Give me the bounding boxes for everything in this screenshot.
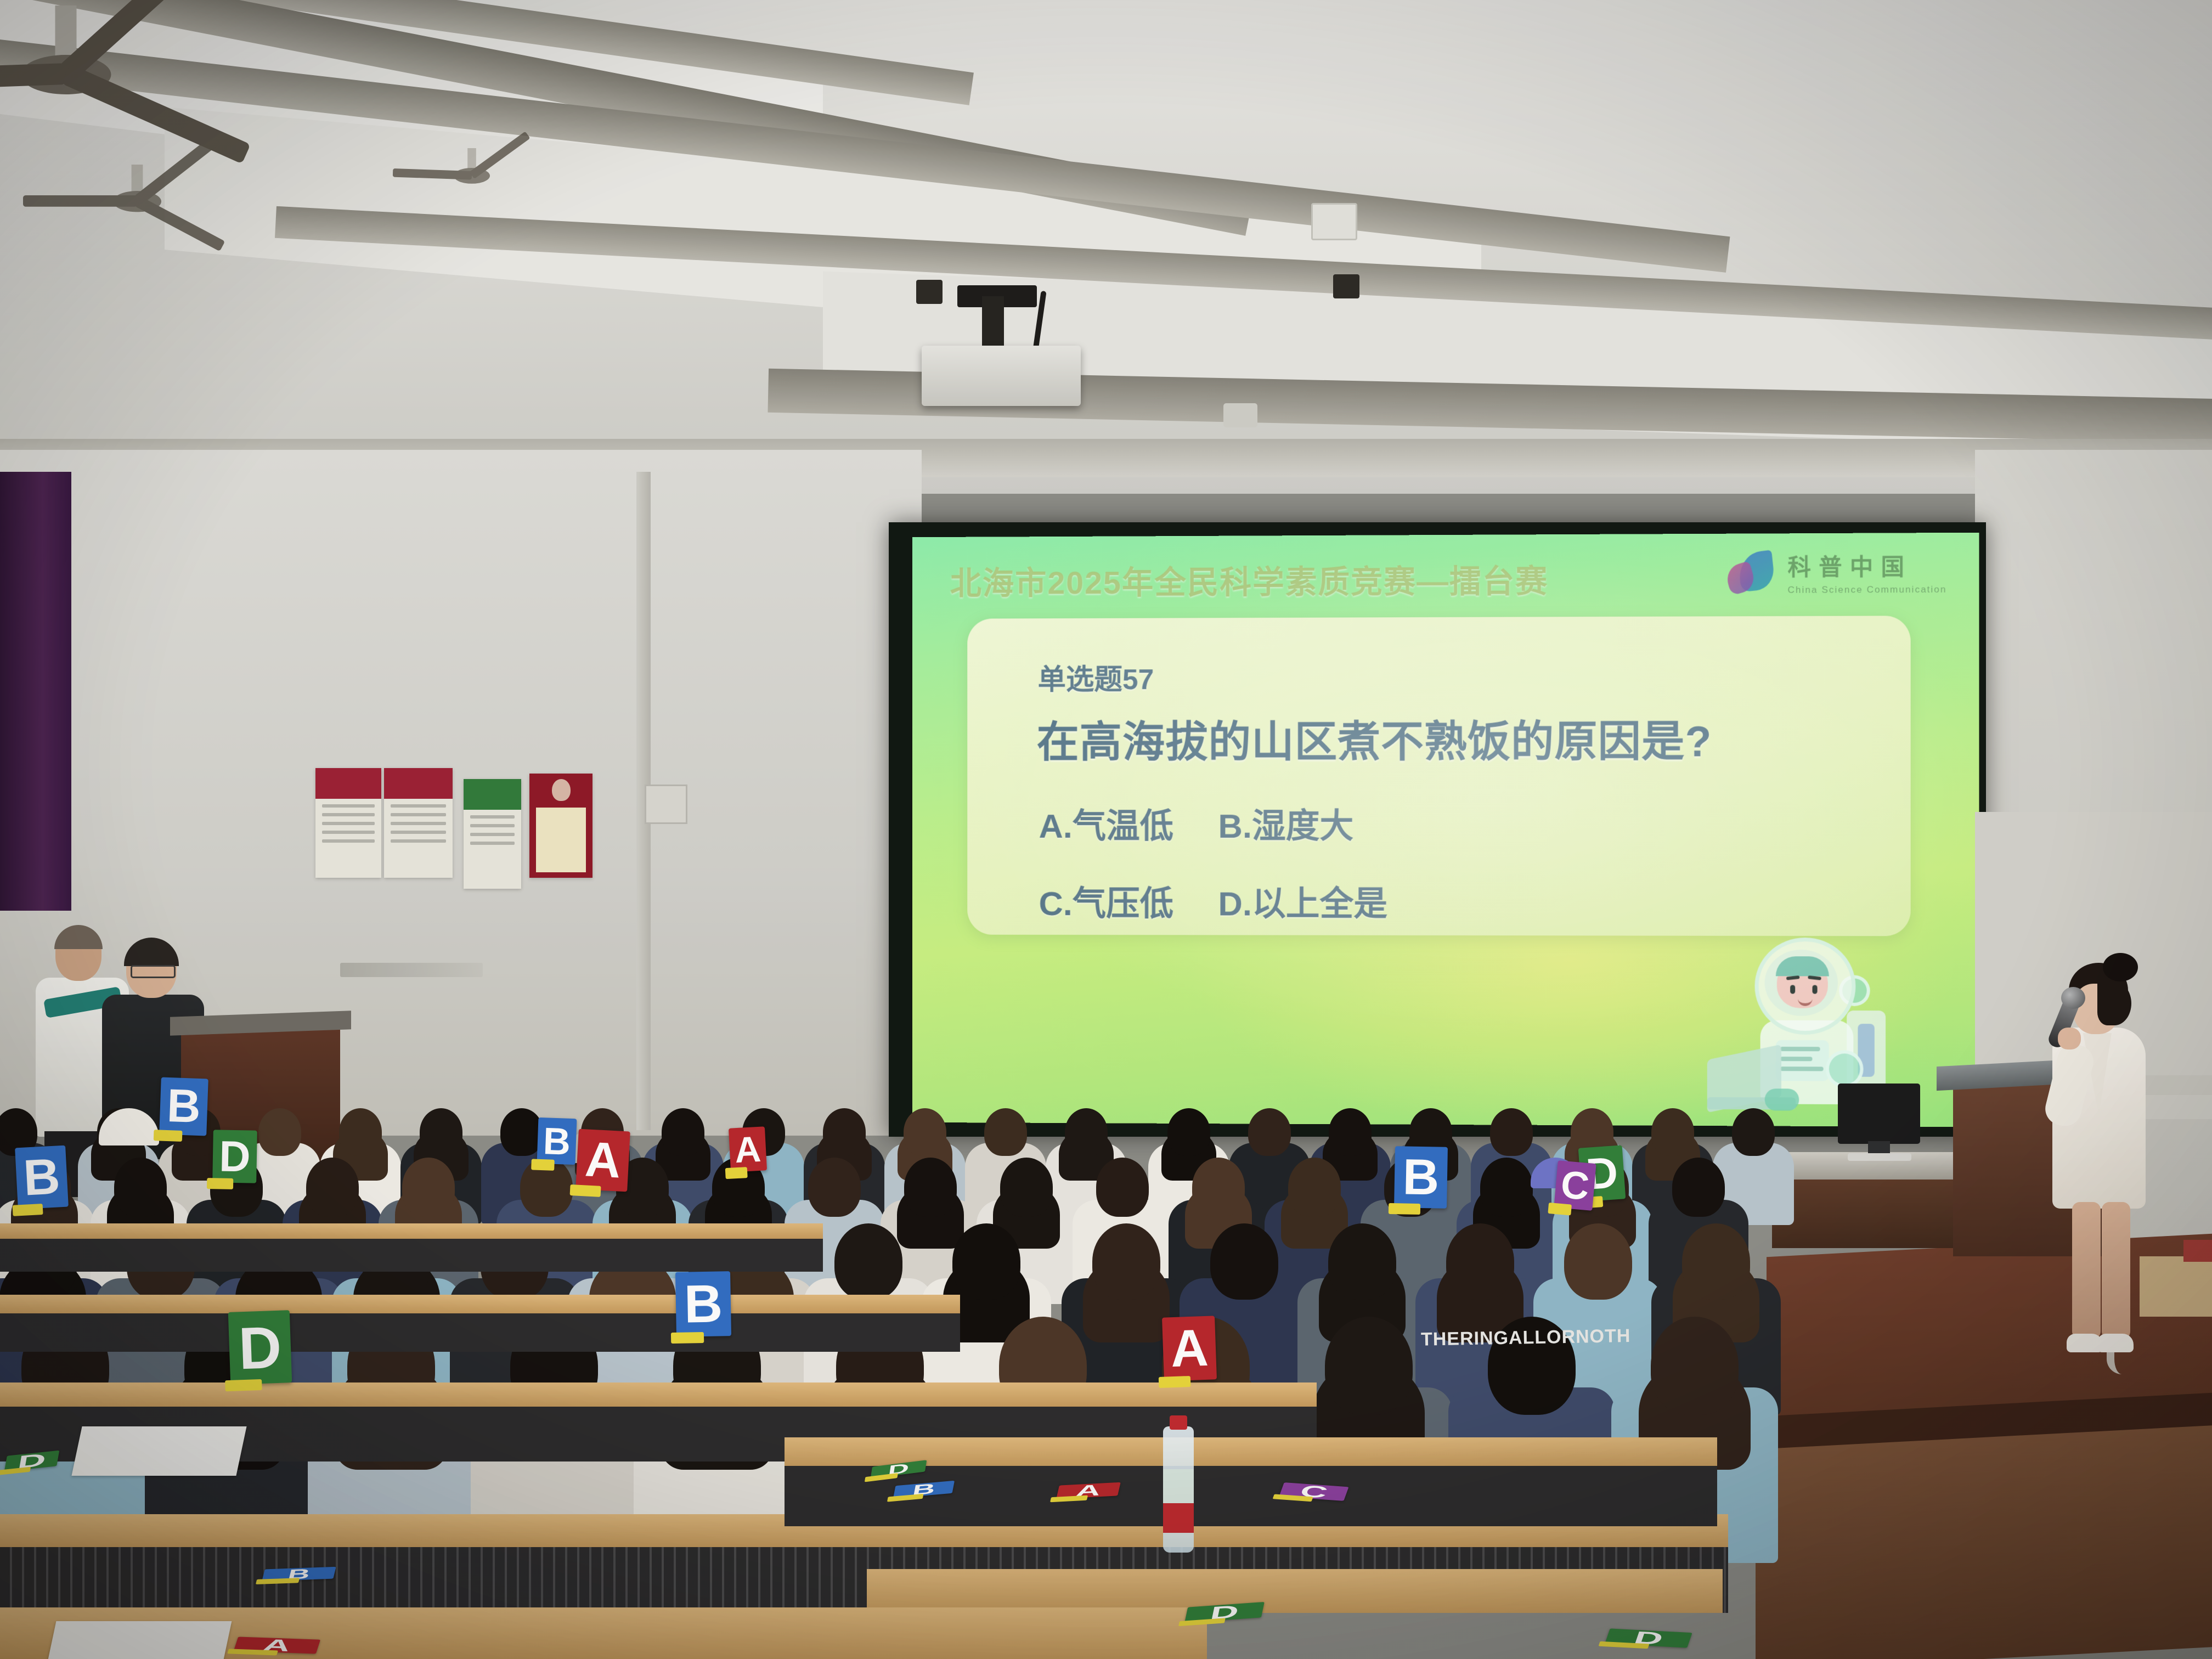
answer-card-a[interactable]: A (234, 1637, 320, 1654)
wall-poster (464, 779, 521, 889)
desk-row (0, 1383, 1317, 1407)
option-a[interactable]: A.气温低 (1039, 798, 1218, 848)
answer-card-b[interactable]: B (159, 1077, 208, 1136)
audience-member-head (952, 1223, 1020, 1300)
desk-front-panel (0, 1313, 960, 1352)
option-b[interactable]: B.湿度大 (1218, 798, 1585, 848)
card-handle (671, 1332, 704, 1344)
audience-member-head (1288, 1158, 1341, 1217)
card-handle (570, 1184, 601, 1197)
card-handle (531, 1159, 555, 1170)
projector (922, 346, 1081, 406)
audience-member-head (1167, 1108, 1210, 1156)
card-handle (1599, 1641, 1650, 1649)
audience-member-head (1672, 1158, 1725, 1217)
audience-member-head (808, 1158, 861, 1217)
card-handle (1389, 1203, 1420, 1215)
audience-member-head (1490, 1108, 1533, 1156)
audience-member-head (402, 1158, 455, 1217)
lecture-hall-photo: 北海市2025年全民科学素质竞赛—擂台赛 科普中国 China Science … (0, 0, 2212, 1659)
wall-poster (315, 768, 381, 878)
audience-member-head (1446, 1223, 1514, 1300)
audience-member-head (904, 1108, 946, 1156)
audience-member-head (823, 1108, 866, 1156)
audience-member-head (1480, 1158, 1533, 1217)
audience-member-head (339, 1108, 382, 1156)
hall-floor (1756, 1425, 2212, 1659)
desk-row (867, 1569, 1723, 1613)
wall-signage (340, 963, 483, 977)
audience-member-head (1564, 1223, 1632, 1300)
question-card: 单选题57 在高海拔的山区煮不熟饭的原因是? A.气温低 B.湿度大 C.气压低… (967, 616, 1910, 936)
projection-screen: 北海市2025年全民科学素质竞赛—擂台赛 科普中国 China Science … (912, 533, 1979, 1127)
camera-icon (1333, 274, 1359, 298)
audience-member-head (1732, 1108, 1775, 1156)
audience-shirt-text: THERINGALLORNOTH (1421, 1326, 1586, 1350)
ceiling-speaker-icon (1223, 403, 1257, 427)
answer-card-c[interactable]: C (1554, 1160, 1596, 1211)
audience-member-head (1651, 1108, 1694, 1156)
red-box (2183, 1240, 2212, 1262)
answer-card-d[interactable]: D (212, 1130, 257, 1183)
option-c[interactable]: C.气压低 (1039, 876, 1218, 926)
brand-lockup: 科普中国 China Science Communication (1727, 548, 1947, 596)
answer-card-b[interactable]: B (537, 1118, 577, 1165)
audience-member-head (1651, 1317, 1739, 1415)
card-handle (13, 1204, 43, 1216)
host-presenter (2033, 963, 2159, 1385)
audience-member-head (114, 1158, 167, 1217)
audience-member-head (1065, 1108, 1108, 1156)
audience-member-head (306, 1158, 359, 1217)
projector-mount (982, 296, 1004, 348)
answer-card-b[interactable]: B (675, 1271, 731, 1337)
audience-member-head (1192, 1158, 1245, 1217)
card-handle (207, 1178, 233, 1189)
audience-member-head (1000, 1158, 1053, 1217)
audience-member-head (1328, 1223, 1396, 1300)
audience-member-head (1329, 1108, 1372, 1156)
desk-row (0, 1295, 960, 1313)
audience-member-head (420, 1108, 462, 1156)
monitor-base (1848, 1153, 1911, 1161)
paper-sheets (48, 1621, 232, 1659)
answer-card-a[interactable]: A (575, 1129, 630, 1192)
audience-member-head (1092, 1223, 1160, 1300)
option-d[interactable]: D.以上全是 (1218, 876, 1585, 926)
stage-curtain (0, 472, 71, 911)
answer-card-b[interactable]: B (15, 1145, 69, 1210)
stage-monitor (1838, 1084, 1920, 1144)
wall-poster (384, 768, 453, 878)
audience-member-head (904, 1158, 957, 1217)
audience-member-head (1096, 1158, 1149, 1217)
question-number: 单选题57 (1038, 656, 1154, 697)
card-handle (1159, 1376, 1190, 1388)
audience-member-head (834, 1223, 902, 1300)
card-handle (1548, 1203, 1572, 1216)
desk-row (0, 1223, 823, 1239)
camera-icon (916, 280, 943, 304)
brand-name-cn: 科普中国 (1788, 548, 1947, 583)
answer-card-d[interactable]: D (1605, 1628, 1692, 1647)
audience-member-head (1248, 1108, 1291, 1156)
audience-member-head (1210, 1223, 1278, 1300)
answer-card-a[interactable]: A (1162, 1316, 1217, 1381)
audience-member-head (258, 1108, 301, 1156)
card-handle (725, 1167, 748, 1179)
brand-name-en: China Science Communication (1788, 584, 1947, 596)
wall-control-panel (645, 785, 687, 824)
glasses-icon (131, 965, 176, 978)
paper-sheets (71, 1426, 246, 1476)
card-handle (154, 1130, 182, 1142)
wall-vent (1311, 203, 1357, 240)
audience-member-head (662, 1108, 704, 1156)
answer-card-d[interactable]: D (228, 1310, 292, 1385)
audience-member-head (1325, 1317, 1413, 1415)
wall-plaque (529, 774, 592, 878)
option-grid: A.气温低 B.湿度大 C.气压低 D.以上全是 (1039, 798, 1585, 926)
slide-banner-title: 北海市2025年全民科学素质竞赛—擂台赛 (950, 555, 1549, 603)
card-handle (225, 1379, 262, 1391)
audience-member-head (1682, 1223, 1750, 1300)
ceiling (0, 0, 2212, 494)
audience-member-head (500, 1108, 543, 1156)
audience-member-head (984, 1108, 1027, 1156)
question-text: 在高海拔的山区煮不熟饭的原因是? (1037, 707, 1712, 770)
answer-card-b[interactable]: B (1394, 1146, 1448, 1209)
desk-front-panel (0, 1239, 823, 1272)
kepu-bird-logo-icon (1727, 549, 1780, 596)
answer-card-a[interactable]: A (729, 1126, 767, 1172)
water-bottle (1163, 1426, 1194, 1553)
